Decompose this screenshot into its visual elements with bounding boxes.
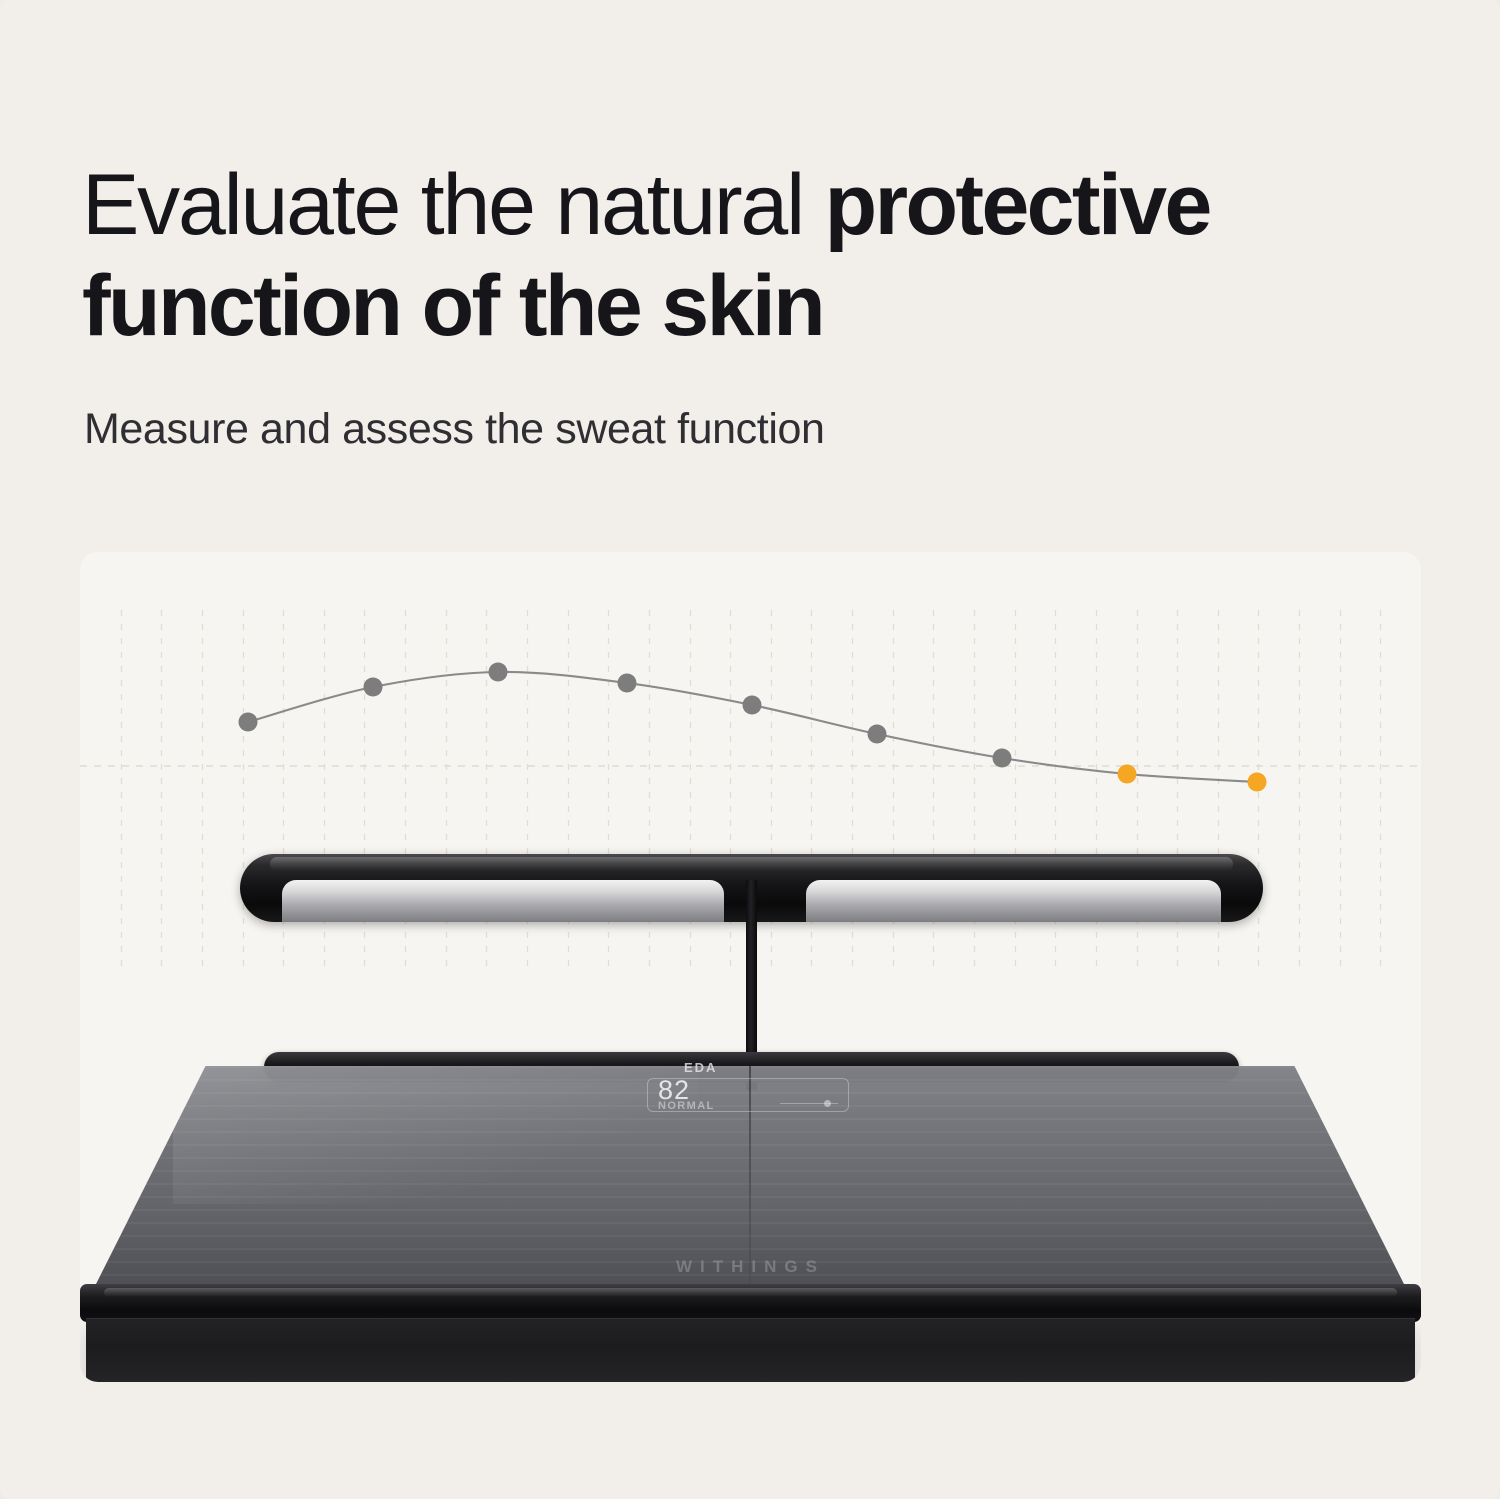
chart-data-point <box>868 725 887 744</box>
chart-data-point <box>993 749 1012 768</box>
handle-gloss-highlight <box>270 857 1233 871</box>
electrode-strip-left <box>282 880 724 922</box>
page-title: Evaluate the natural protective function… <box>82 155 1412 356</box>
brand-logo-text: WITHINGS <box>80 1257 1421 1277</box>
display-metric-label: EDA <box>684 1060 717 1075</box>
chart-data-point <box>1118 765 1137 784</box>
electrode-strip-right <box>806 880 1221 922</box>
headline-line1-bold: protective <box>825 157 1210 253</box>
platform-sheen <box>173 1066 698 1204</box>
product-showcase-card: EDA 82 NORMAL WITHINGS <box>80 552 1421 1382</box>
chart-data-point <box>364 678 383 697</box>
headline-line2-bold: function of the skin <box>82 258 823 354</box>
chart-data-point <box>1248 773 1267 792</box>
scale-front-bezel <box>80 1284 1421 1322</box>
headline-line1-light: Evaluate the natural <box>82 157 825 253</box>
bezel-highlight <box>104 1288 1397 1297</box>
display-scale-indicator-dot <box>824 1100 831 1107</box>
chart-data-point <box>239 713 258 732</box>
display-metric-status: NORMAL <box>658 1100 715 1112</box>
chart-data-point <box>618 674 637 693</box>
chart-data-point <box>743 696 762 715</box>
withings-body-scan-scale: EDA 82 NORMAL WITHINGS <box>80 820 1421 1382</box>
page-subtitle: Measure and assess the sweat function <box>84 405 825 454</box>
scale-lower-body <box>86 1318 1415 1382</box>
product-feature-page: Evaluate the natural protective function… <box>0 0 1500 1499</box>
chart-data-point <box>489 663 508 682</box>
